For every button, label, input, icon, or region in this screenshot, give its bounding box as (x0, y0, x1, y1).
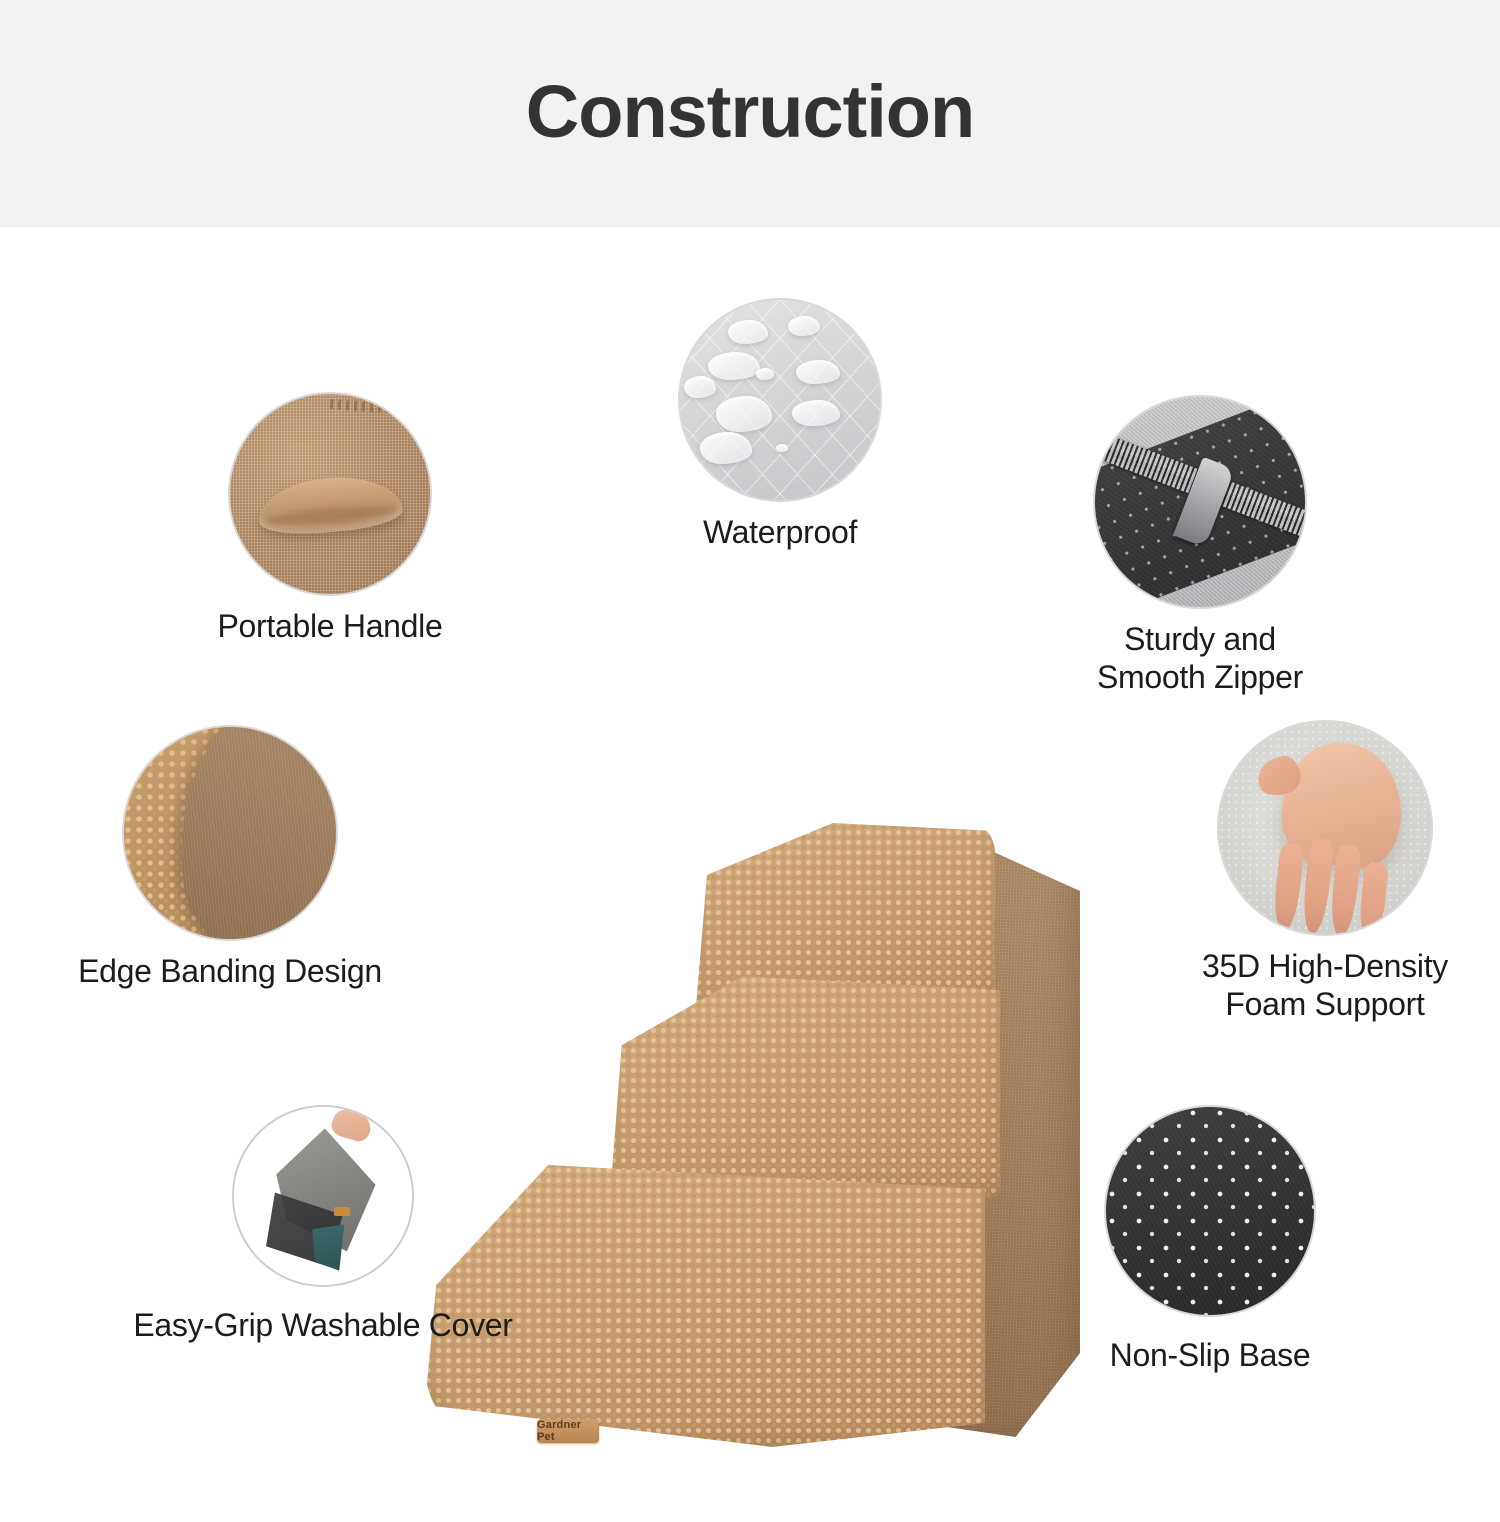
feature-label-edge-banding-design: Edge Banding Design (60, 953, 400, 991)
feature-label-non-slip-base: Non-Slip Base (1055, 1337, 1365, 1375)
fabric-handle-icon (230, 394, 430, 594)
grip-dots-icon (1106, 1107, 1314, 1315)
feature-label-waterproof: Waterproof (630, 514, 930, 552)
product-brand-tag: Gardner Pet (537, 1419, 599, 1443)
zipper-icon (1095, 397, 1305, 607)
hand-on-foam-icon (1219, 722, 1431, 934)
feature-waterproof[interactable]: Waterproof (630, 300, 930, 552)
feature-label-sturdy-smooth-zipper: Sturdy and Smooth Zipper (1045, 621, 1355, 697)
product-step-middle (610, 967, 1000, 1197)
feature-sturdy-smooth-zipper[interactable]: Sturdy and Smooth Zipper (1045, 397, 1355, 697)
feature-label-portable-handle: Portable Handle (180, 608, 480, 646)
feature-label-foam-support: 35D High-Density Foam Support (1155, 948, 1495, 1024)
feature-foam-support[interactable]: 35D High-Density Foam Support (1155, 722, 1495, 1024)
feature-portable-handle[interactable]: Portable Handle (180, 394, 480, 646)
hand-lifting-cover-icon (234, 1107, 412, 1285)
edge-banding-icon (124, 727, 336, 939)
feature-easy-grip-washable-cover[interactable]: Easy-Grip Washable Cover (108, 1107, 538, 1345)
infographic-stage: Gardner Pet Portable Handle Waterproof (0, 227, 1500, 1386)
page-title: Construction (526, 75, 974, 149)
feature-label-easy-grip-washable-cover: Easy-Grip Washable Cover (108, 1307, 538, 1345)
feature-non-slip-base[interactable]: Non-Slip Base (1055, 1107, 1365, 1375)
brand-tag-text: Gardner Pet (537, 1419, 599, 1443)
feature-edge-banding-design[interactable]: Edge Banding Design (60, 727, 400, 991)
page-header: Construction (0, 0, 1500, 227)
water-droplets-icon (680, 300, 880, 500)
